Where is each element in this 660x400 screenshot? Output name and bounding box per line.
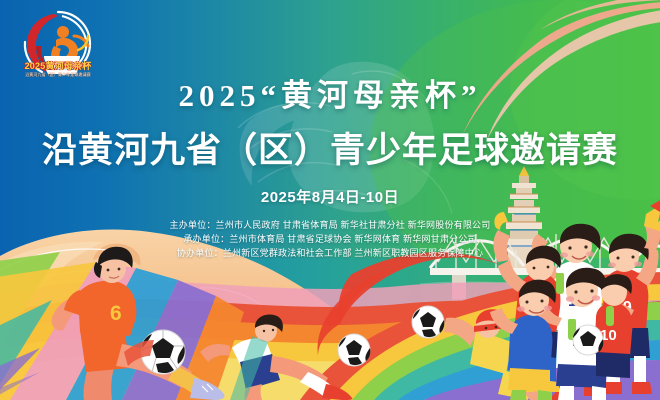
organizer-row-coorganizer: 协办单位：兰州新区党群政法和社会工作部 兰州新区职教园区服务保障中心 <box>0 246 660 260</box>
organizer-list: 主办单位：兰州市人民政府 甘肃省体育局 新华社甘肃分社 新华网股份有限公司 承办… <box>0 218 660 260</box>
event-poster: 6 <box>0 0 660 400</box>
organizer-row-undertaker: 承办单位：兰州市体育局 甘肃省足球协会 新华网体育 新华网甘肃分公司 <box>0 232 660 246</box>
jersey-number: 6 <box>110 302 122 325</box>
poster-title-line-1: 2025“黄河母亲杯” <box>0 70 660 115</box>
organizer-row-host: 主办单位：兰州市人民政府 甘肃省体育局 新华社甘肃分社 新华网股份有限公司 <box>0 218 660 232</box>
soccer-ball-centre <box>338 334 370 366</box>
soccer-ball-right <box>412 306 444 338</box>
event-date: 2025年8月4日-10日 <box>0 186 660 207</box>
poster-title-line-2: 沿黄河九省（区）青少年足球邀请赛 <box>0 122 660 173</box>
title-block: 2025“黄河母亲杯” 沿黄河九省（区）青少年足球邀请赛 2025年8月4日-1… <box>0 70 660 260</box>
soccer-ball-group <box>573 325 603 355</box>
